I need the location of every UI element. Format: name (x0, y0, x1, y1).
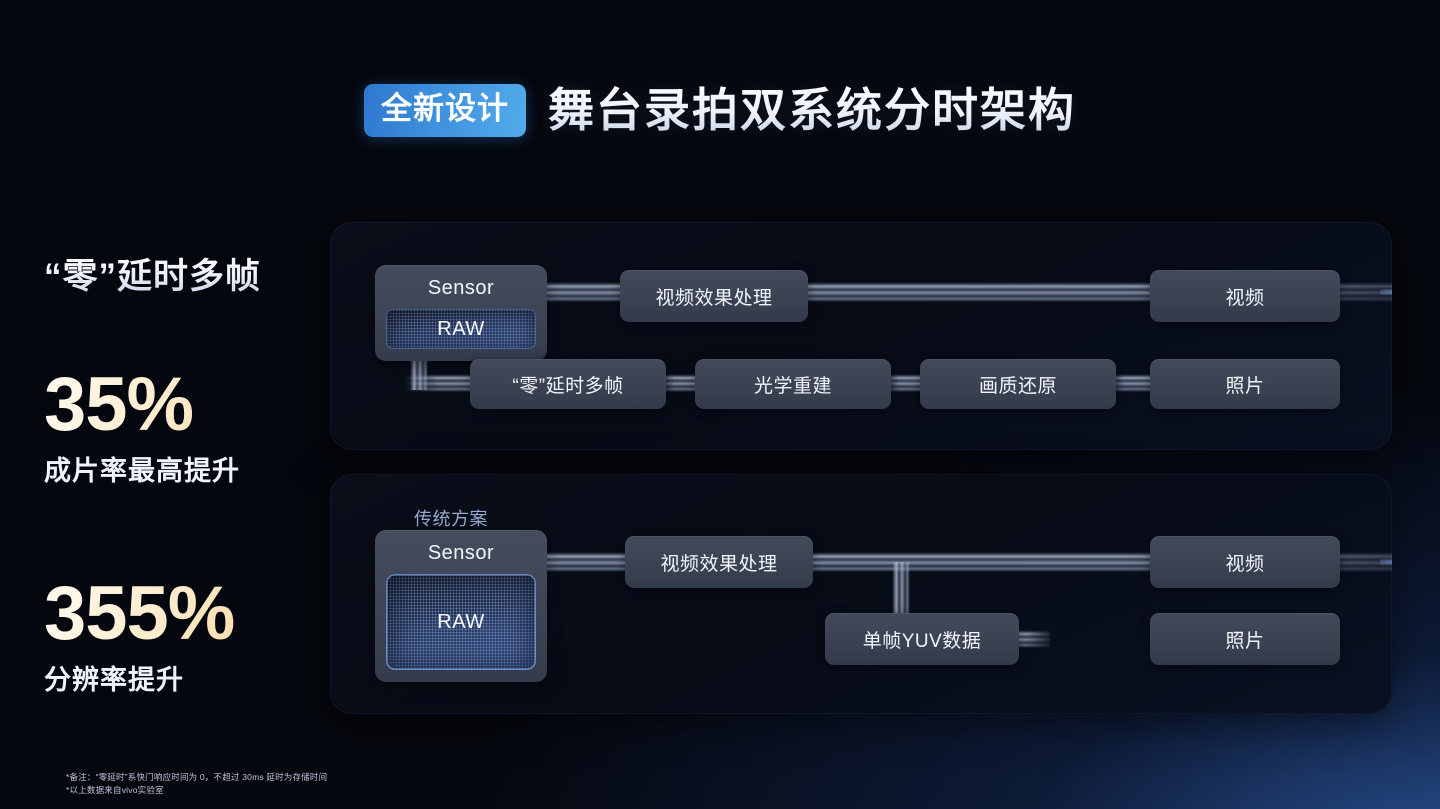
stat-number: 355% (44, 576, 344, 652)
node-video-effect-processing[interactable]: 视频效果处理 (625, 536, 813, 588)
stat-number: 35% (44, 367, 344, 443)
arrow-to-video (1380, 554, 1392, 570)
node-photo-output[interactable]: 照片 (1150, 613, 1340, 665)
raw-data-box: RAW (386, 574, 536, 670)
page-title: 舞台录拍双系统分时架构 (548, 85, 1076, 136)
node-video-output[interactable]: 视频 (1150, 270, 1340, 322)
arrow-to-video (1380, 284, 1392, 300)
stat-item-0: 35% 成片率最高提升 (44, 367, 344, 488)
node-video-output[interactable]: 视频 (1150, 536, 1340, 588)
node-video-effect-processing[interactable]: 视频效果处理 (620, 270, 808, 322)
raw-data-box: RAW (386, 309, 536, 349)
footnote-line-2: *以上数据来自vivo实验室 (66, 784, 327, 797)
slide-header: 全新设计 舞台录拍双系统分时架构 (0, 84, 1440, 137)
node-single-frame-yuv[interactable]: 单帧YUV数据 (825, 613, 1019, 665)
sensor-title: Sensor (375, 277, 547, 300)
sensor-title: Sensor (375, 542, 547, 565)
footnote-line-1: *备注：“零延时”系快门响应时间为 0，不超过 30ms 延时为存储时间 (66, 771, 327, 784)
new-scheme-panel: Sensor RAW 视频效果处理 视频 “零”延时多帧 光学重建 画质还原 照… (330, 222, 1392, 450)
slide-canvas: 全新设计 舞台录拍双系统分时架构 “零”延时多帧 35% 成片率最高提升 355… (0, 0, 1440, 809)
node-optical-reconstruction[interactable]: 光学重建 (695, 359, 891, 409)
legacy-scheme-label: 传统方案 (414, 505, 488, 531)
stat-item-1: 355% 分辨率提升 (44, 576, 344, 697)
stats-heading: “零”延时多帧 (44, 248, 344, 299)
new-design-badge: 全新设计 (364, 84, 526, 137)
node-image-quality-restore[interactable]: 画质还原 (920, 359, 1116, 409)
legacy-scheme-panel: 传统方案 Sensor RAW 视频效果处理 视频 单帧YUV数据 照片 (330, 474, 1392, 714)
stats-column: “零”延时多帧 35% 成片率最高提升 355% 分辨率提升 (44, 248, 344, 697)
node-photo-output[interactable]: 照片 (1150, 359, 1340, 409)
stat-label: 分辨率提升 (44, 658, 344, 697)
stat-label: 成片率最高提升 (44, 449, 344, 488)
sensor-module: Sensor RAW (375, 530, 547, 682)
sensor-module: Sensor RAW (375, 265, 547, 361)
footnote: *备注：“零延时”系快门响应时间为 0，不超过 30ms 延时为存储时间 *以上… (66, 771, 327, 797)
node-zero-delay-multiframe[interactable]: “零”延时多帧 (470, 359, 666, 409)
